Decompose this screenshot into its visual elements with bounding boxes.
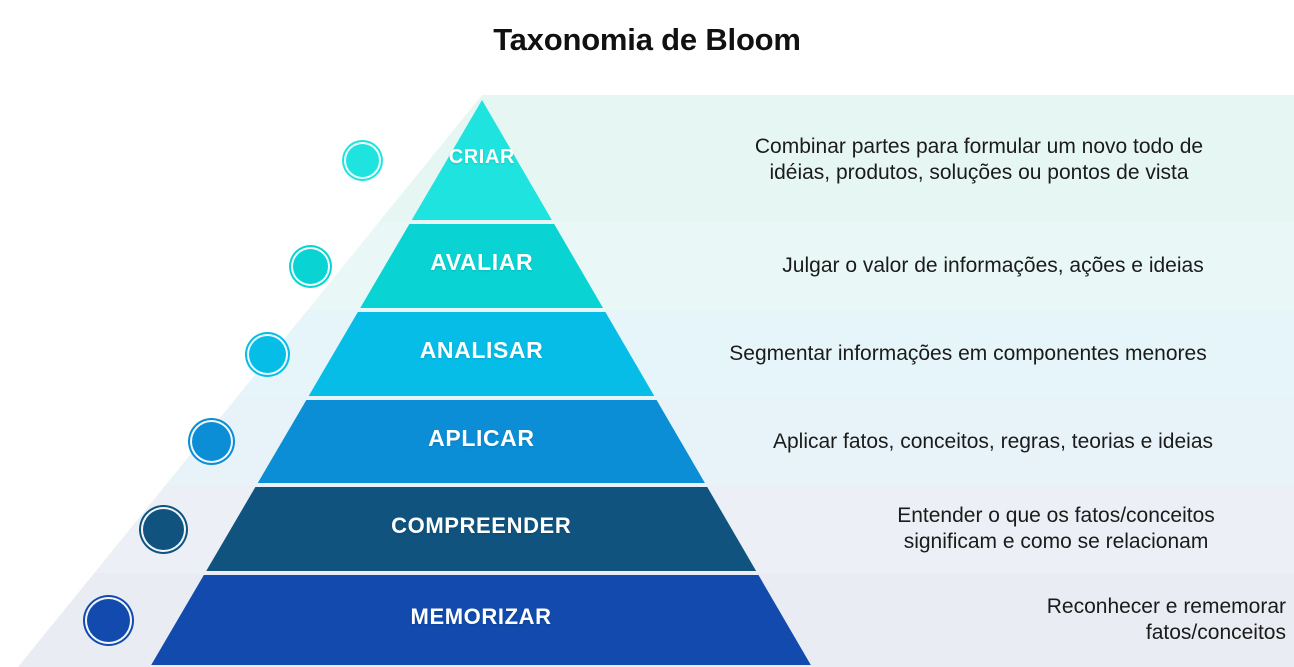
bloom-taxonomy-infographic: Taxonomia de Bloom CRIARAVALIARANALISARA…	[0, 0, 1294, 667]
level-description-6: Combinar partes para formular um novo to…	[672, 134, 1286, 185]
level-badge-1[interactable]: 1	[87, 599, 130, 642]
description-line: idéias, produtos, soluções ou pontos de …	[672, 160, 1286, 186]
level-badge-6[interactable]: 6	[346, 144, 379, 177]
level-description-4: Segmentar informações em componentes men…	[650, 341, 1286, 367]
level-badge-3[interactable]: 3	[192, 422, 231, 461]
level-badge-2[interactable]: 2	[143, 509, 184, 550]
description-line: Entender o que os fatos/conceitos	[826, 503, 1286, 529]
description-line: Aplicar fatos, conceitos, regras, teoria…	[700, 429, 1286, 455]
level-badge-5[interactable]: 5	[293, 249, 328, 284]
description-line: Reconhecer e rememorar	[886, 594, 1286, 620]
level-description-2: Entender o que os fatos/conceitossignifi…	[826, 503, 1286, 554]
level-description-5: Julgar o valor de informações, ações e i…	[700, 253, 1286, 279]
description-line: Combinar partes para formular um novo to…	[672, 134, 1286, 160]
description-line: significam e como se relacionam	[826, 529, 1286, 555]
description-line: fatos/conceitos	[886, 620, 1286, 646]
page-title: Taxonomia de Bloom	[0, 22, 1294, 58]
level-description-1: Reconhecer e rememorarfatos/conceitos	[886, 594, 1286, 645]
description-line: Julgar o valor de informações, ações e i…	[700, 253, 1286, 279]
level-description-3: Aplicar fatos, conceitos, regras, teoria…	[700, 429, 1286, 455]
level-badge-4[interactable]: 4	[249, 336, 286, 373]
description-line: Segmentar informações em componentes men…	[650, 341, 1286, 367]
